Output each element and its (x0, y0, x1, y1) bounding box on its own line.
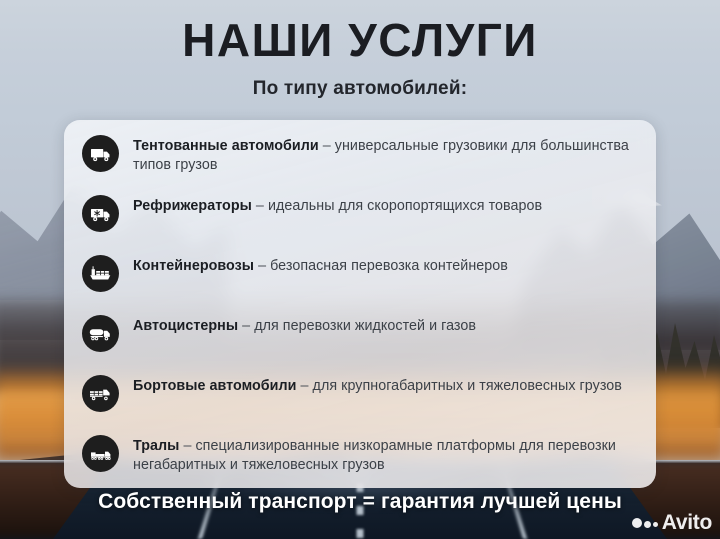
box-truck-icon (82, 135, 119, 172)
page-subtitle: По типу автомобилей: (0, 78, 720, 100)
service-item: Тралы – специализированные низкорамные п… (82, 434, 636, 478)
lowboy-trailer-icon (82, 435, 119, 472)
avito-wordmark: Avito (662, 512, 712, 533)
service-name: Тентованные автомобили (133, 138, 319, 154)
service-item: Рефрижераторы – идеальны для скоропортящ… (82, 194, 636, 238)
service-description: безопасная перевозка контейнеров (270, 258, 508, 274)
tagline: Собственный транспорт = гарантия лучшей … (0, 490, 720, 514)
service-dash: – (319, 138, 335, 154)
service-item: Автоцистерны – для перевозки жидкостей и… (82, 314, 636, 358)
refrigerated-truck-icon (82, 195, 119, 232)
avito-dots-icon (632, 518, 658, 528)
service-description: для крупногабаритных и тяжеловесных груз… (313, 378, 622, 394)
container-ship-icon (82, 255, 119, 292)
service-dash: – (179, 438, 195, 454)
poster-root: НАШИ УСЛУГИ По типу автомобилей: Тентова… (0, 0, 720, 539)
service-item: Контейнеровозы – безопасная перевозка ко… (82, 254, 636, 298)
service-name: Бортовые автомобили (133, 378, 297, 394)
service-description: для перевозки жидкостей и газов (254, 318, 476, 334)
avito-dot-medium (644, 521, 651, 528)
service-dash: – (238, 318, 254, 334)
service-text: Рефрижераторы – идеальны для скоропортящ… (133, 194, 542, 216)
service-dash: – (252, 198, 268, 214)
service-text: Тралы – специализированные низкорамные п… (133, 434, 636, 475)
service-dash: – (254, 258, 270, 274)
service-text: Тентованные автомобили – универсальные г… (133, 134, 636, 175)
service-name: Контейнеровозы (133, 258, 254, 274)
service-item: Тентованные автомобили – универсальные г… (82, 134, 636, 178)
service-name: Тралы (133, 438, 179, 454)
services-card: Тентованные автомобили – универсальные г… (64, 120, 656, 488)
avito-dot-small (653, 522, 658, 527)
avito-watermark: Avito (632, 512, 712, 533)
service-text: Автоцистерны – для перевозки жидкостей и… (133, 314, 476, 336)
flatbed-truck-icon (82, 375, 119, 412)
service-item: Бортовые автомобили – для крупногабаритн… (82, 374, 636, 418)
page-title: НАШИ УСЛУГИ (0, 16, 720, 64)
service-description: идеальны для скоропортящихся товаров (268, 198, 542, 214)
service-name: Автоцистерны (133, 318, 238, 334)
tanker-truck-icon (82, 315, 119, 352)
service-dash: – (297, 378, 313, 394)
avito-dot-large (632, 518, 642, 528)
service-text: Контейнеровозы – безопасная перевозка ко… (133, 254, 508, 276)
service-name: Рефрижераторы (133, 198, 252, 214)
service-text: Бортовые автомобили – для крупногабаритн… (133, 374, 622, 396)
header: НАШИ УСЛУГИ По типу автомобилей: (0, 16, 720, 100)
service-description: специализированные низкорамные платформы… (133, 438, 616, 473)
